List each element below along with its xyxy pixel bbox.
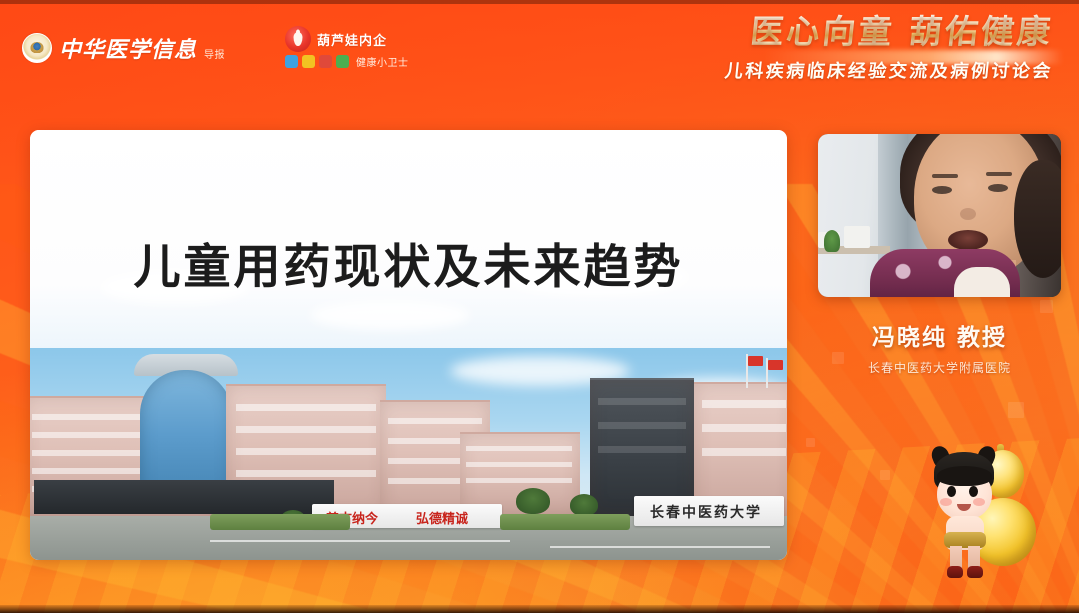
photo-road-marking [210,540,510,542]
cloud-shape [310,300,470,330]
hulu-badge-icon [285,26,311,52]
speaker-name: 冯晓纯 教授 [818,318,1061,352]
window-row [466,462,572,467]
speaker-eyebrow-right [986,172,1012,176]
speaker-caption: 冯晓纯 教授 长春中医药大学附属医院 [818,318,1061,376]
mascot-eye-right [969,486,978,497]
logo-china-medical-info: 中华医学信息 导报 [22,32,225,64]
window-row [236,426,376,433]
broadcast-screen: 中华医学信息 导报 葫芦娃内企 健康小卫士 医心向童 葫佑健康 儿科疾病临床经验… [0,0,1079,613]
event-subtitle: 儿科疾病临床经验交流及病例讨论会 [632,57,1055,83]
photo-tree [516,488,550,514]
window-row [388,418,482,424]
background-square [880,470,890,480]
video-plant [824,230,840,252]
photo-tree [570,494,598,516]
window-row [598,446,686,453]
logo-secondary-name: 葫芦娃内企 [317,30,387,49]
window-row [236,404,376,411]
logo-hulu-bottom-row: 健康小卫士 [285,54,409,69]
video-box-object [844,226,870,248]
presentation-slide[interactable]: 儿童用药现状及未来趋势 长春中医药大学附属医院 儿童诊疗中心 长春中医药大学附属… [30,130,787,560]
window-row [236,470,376,477]
photo-road-marking [550,546,770,548]
speaker-eyebrow-left [932,174,958,178]
header-logo-row: 中华医学信息 导报 葫芦娃内企 健康小卫士 [22,26,409,69]
event-title-banner: 医心向童 葫佑健康 儿科疾病临床经验交流及病例讨论会 [633,14,1053,83]
tile-icon-3 [319,55,332,68]
logo-hulu-top-row: 葫芦娃内企 [285,26,409,52]
mascot-eye-left [947,486,956,497]
logo-primary-suffix: 导报 [204,46,225,64]
speaker-eye-right [988,184,1008,192]
photo-grass-strip [210,514,350,530]
campus-photo: 尊古纳今 弘德精诚 长春中医药大学 [30,348,787,560]
photo-gate-sign-text: 长春中医药大学 [650,502,762,522]
photo-flag [748,356,763,366]
background-square [1040,300,1053,313]
background-square [806,438,815,447]
speaker-collar [954,267,1010,297]
slide-title: 儿童用药现状及未来趋势 [30,228,787,297]
mascot-cheek-left [940,498,952,506]
speaker-organization: 长春中医药大学附属医院 [818,359,1061,376]
window-row [466,478,572,483]
tile-icon-4 [336,55,349,68]
speaker-mouth [948,230,988,250]
logo-primary-text: 中华医学信息 [59,32,197,64]
window-row [702,400,786,408]
tile-icon-1 [285,55,298,68]
mascot-fringe [937,466,992,486]
bottom-edge-shade [0,605,1079,613]
photo-building-base [34,480,334,514]
photo-sign-text-right: 弘德精诚 [416,508,468,527]
tile-icon-2 [302,55,315,68]
window-row [236,448,376,455]
window-row [598,422,686,429]
speaker-video-feed[interactable] [818,134,1061,297]
mascot-boy-figure [926,452,1004,584]
calabash-boy-mascot [920,440,1050,590]
window-row [466,446,572,451]
top-edge-shade [0,0,1079,4]
photo-grass-strip [500,514,630,530]
event-title: 医心向童 葫佑健康 [631,14,1055,51]
mascot-shoe-right [967,566,983,578]
speaker-eye-left [932,186,952,194]
window-row [598,398,686,405]
window-row [702,424,786,432]
mascot-shoe-left [947,566,963,578]
photo-flag [768,360,783,370]
mascot-cheek-right [973,498,985,506]
cma-emblem-icon [22,33,52,63]
logo-secondary-tagline: 健康小卫士 [356,54,409,69]
window-row [702,448,786,456]
background-square [1008,402,1024,418]
logo-hulu-program: 葫芦娃内企 健康小卫士 [285,26,409,69]
speaker-nose [960,208,976,220]
